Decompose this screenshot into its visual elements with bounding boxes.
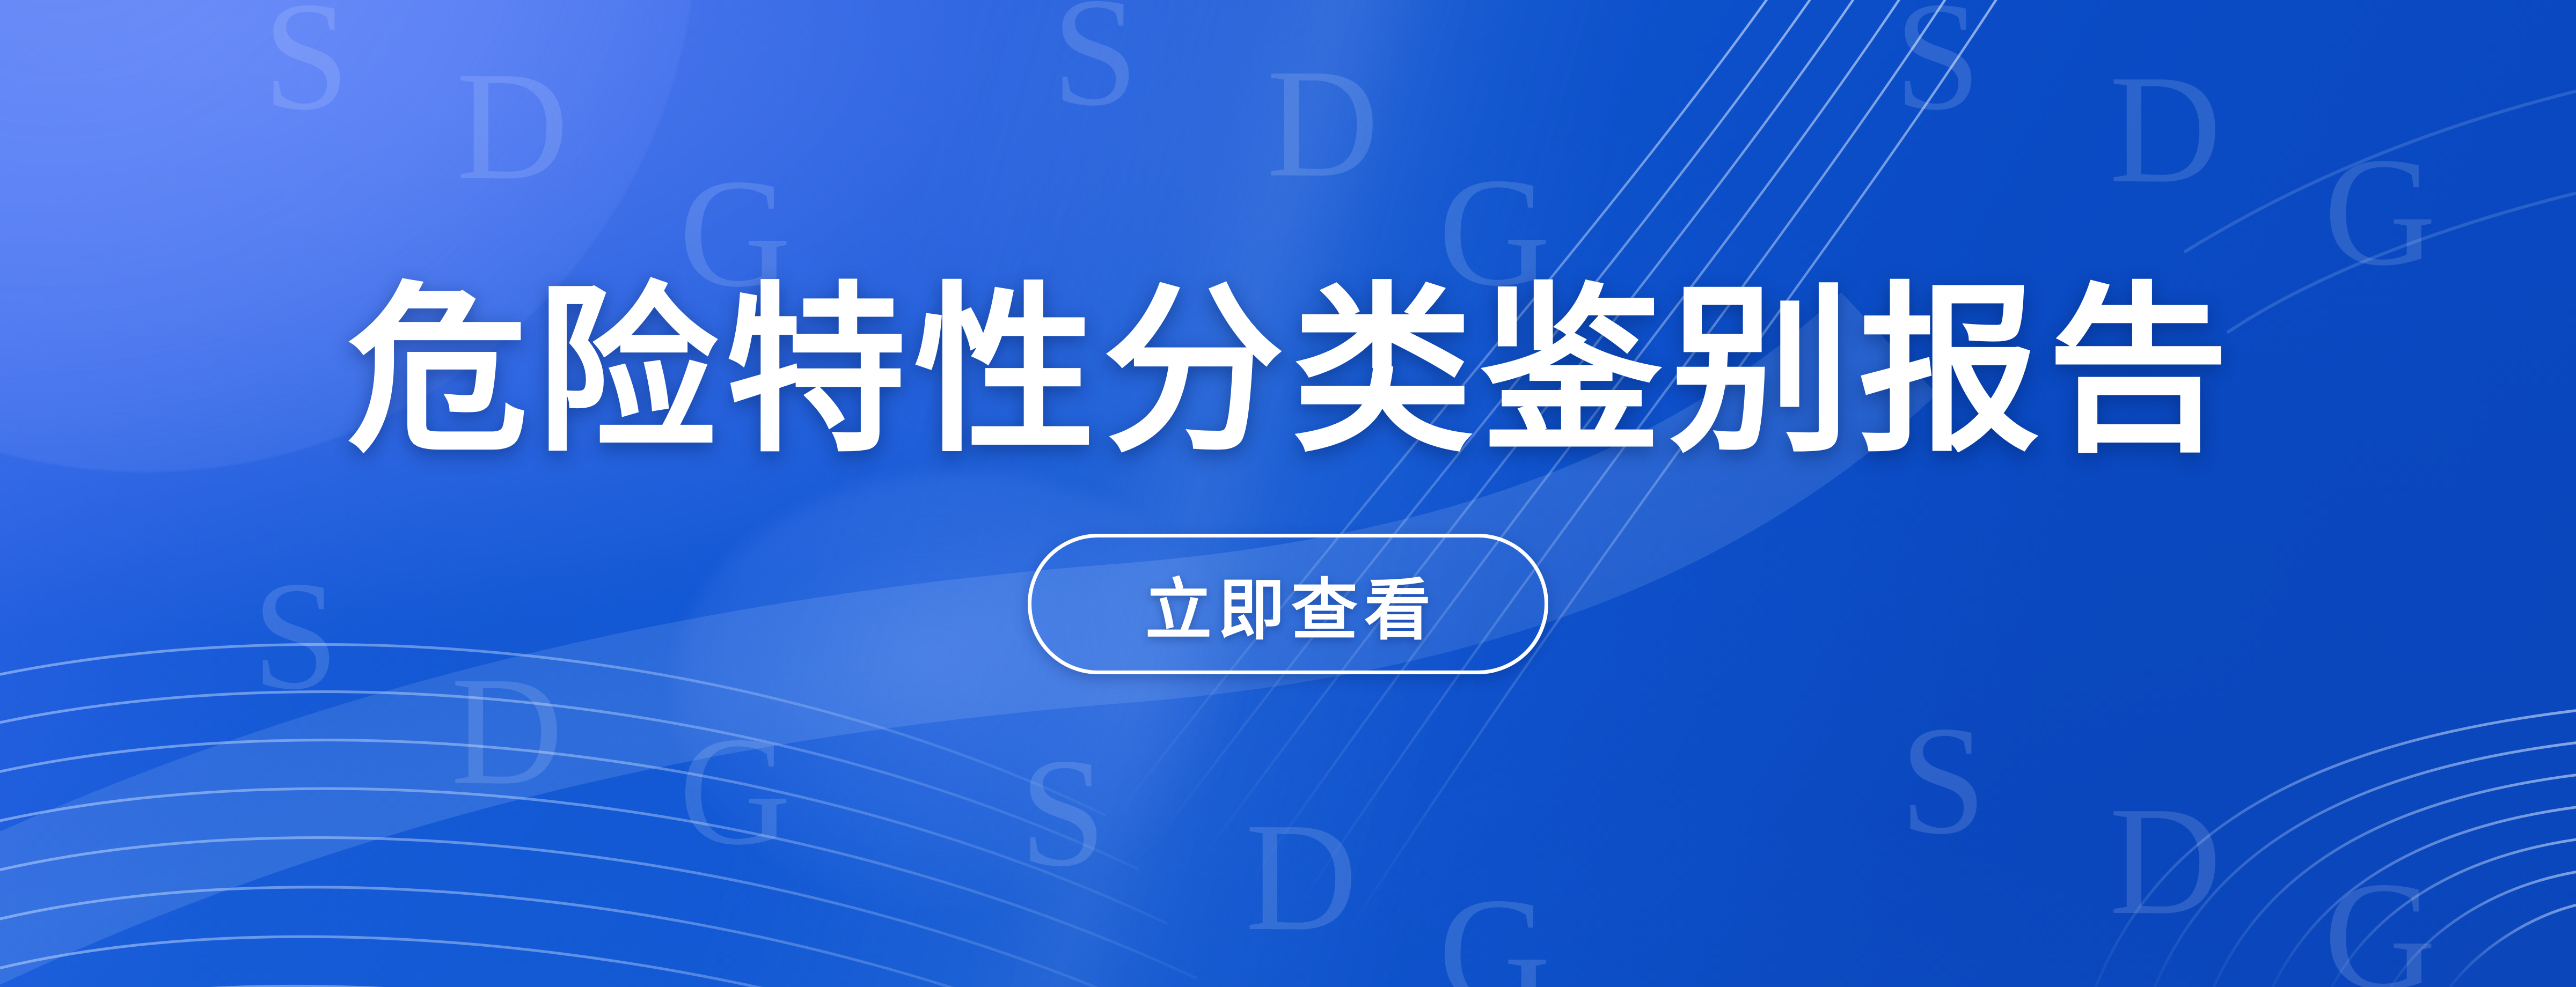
hero-banner: SDGSDGSDGSDGSDGSDG 危险特性分类鉴别报告 立即查看 xyxy=(0,0,2576,987)
page-title: 危险特性分类鉴别报告 xyxy=(340,281,2236,462)
banner-content: 危险特性分类鉴别报告 立即查看 xyxy=(0,0,2576,987)
view-now-button[interactable]: 立即查看 xyxy=(1028,534,1548,674)
